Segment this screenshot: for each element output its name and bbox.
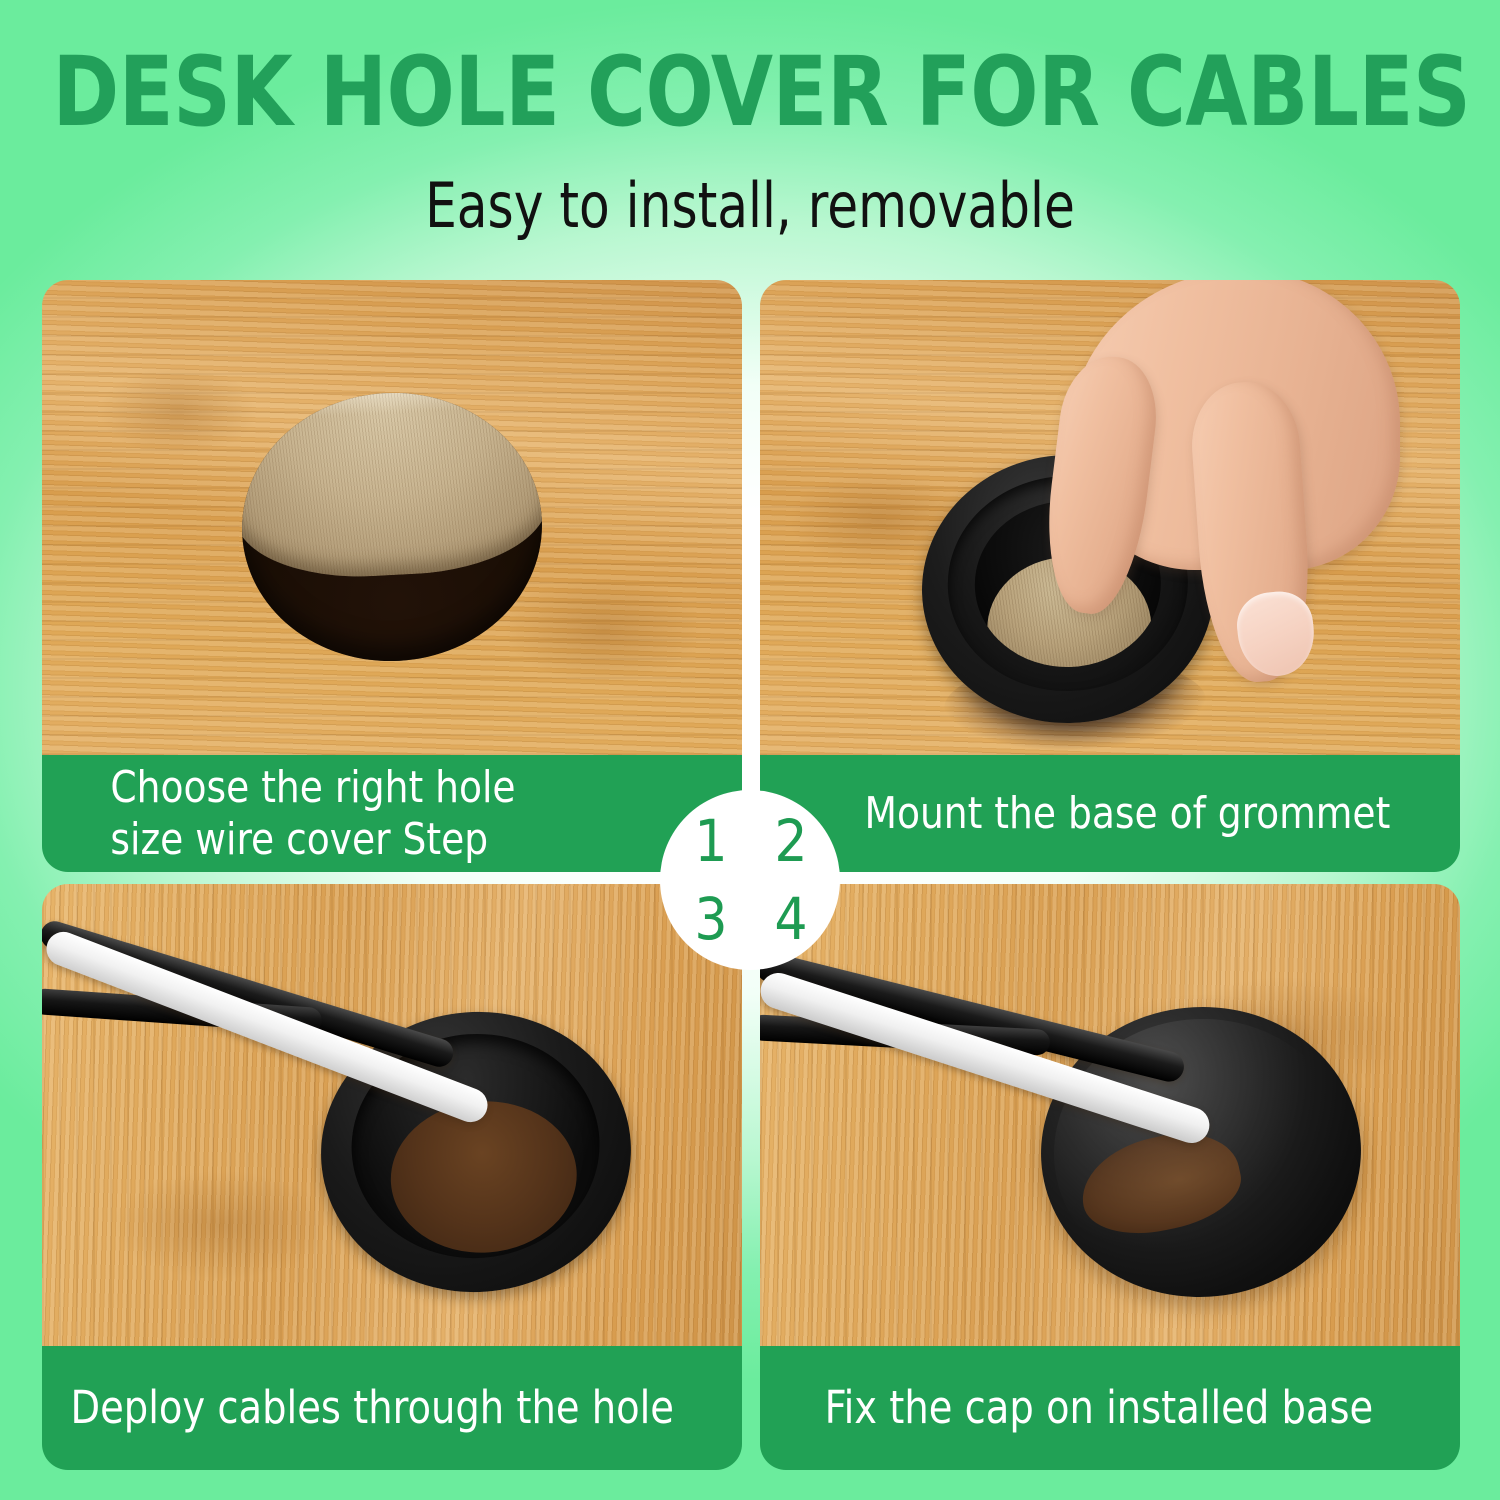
page-title: DESK HOLE COVER FOR CABLES [53, 44, 1448, 140]
hand [1010, 280, 1460, 750]
step-card-3: Deploy cables through the hole [42, 884, 742, 1470]
step-1-caption-banner: Choose the right hole size wire cover St… [42, 755, 742, 872]
step-2-caption-banner: Mount the base of grommet [760, 755, 1460, 872]
page-subtitle: Easy to install, removable [75, 175, 1425, 237]
step-4-caption: Fix the cap on installed base [760, 1382, 1373, 1434]
step-number-4: 4 [774, 890, 807, 948]
step-4-photo [760, 884, 1460, 1346]
step-card-2: Mount the base of grommet [760, 280, 1460, 872]
step-3-caption: Deploy cables through the hole [42, 1382, 674, 1434]
index-finger [1037, 351, 1164, 619]
step-1-caption: Choose the right hole size wire cover St… [42, 762, 516, 866]
step-2-photo [760, 280, 1460, 755]
wood-knot [112, 1170, 332, 1280]
step-3-photo [42, 884, 742, 1346]
step-number-1: 1 [694, 812, 727, 870]
step-card-1: Choose the right hole size wire cover St… [42, 280, 742, 872]
step-3-caption-banner: Deploy cables through the hole [42, 1346, 742, 1470]
step-number-hub: 1 2 3 4 [660, 790, 840, 970]
wood-knot [504, 575, 704, 685]
step-1-photo [42, 280, 742, 755]
hole-particleboard-rim [235, 385, 549, 583]
step-2-caption: Mount the base of grommet [760, 788, 1390, 840]
wood-knot [98, 366, 258, 456]
step-4-caption-banner: Fix the cap on installed base [760, 1346, 1460, 1470]
step-number-2: 2 [774, 812, 807, 870]
step-number-3: 3 [694, 890, 727, 948]
header: DESK HOLE COVER FOR CABLES Easy to insta… [0, 0, 1500, 272]
step-card-4: Fix the cap on installed base [760, 884, 1460, 1470]
